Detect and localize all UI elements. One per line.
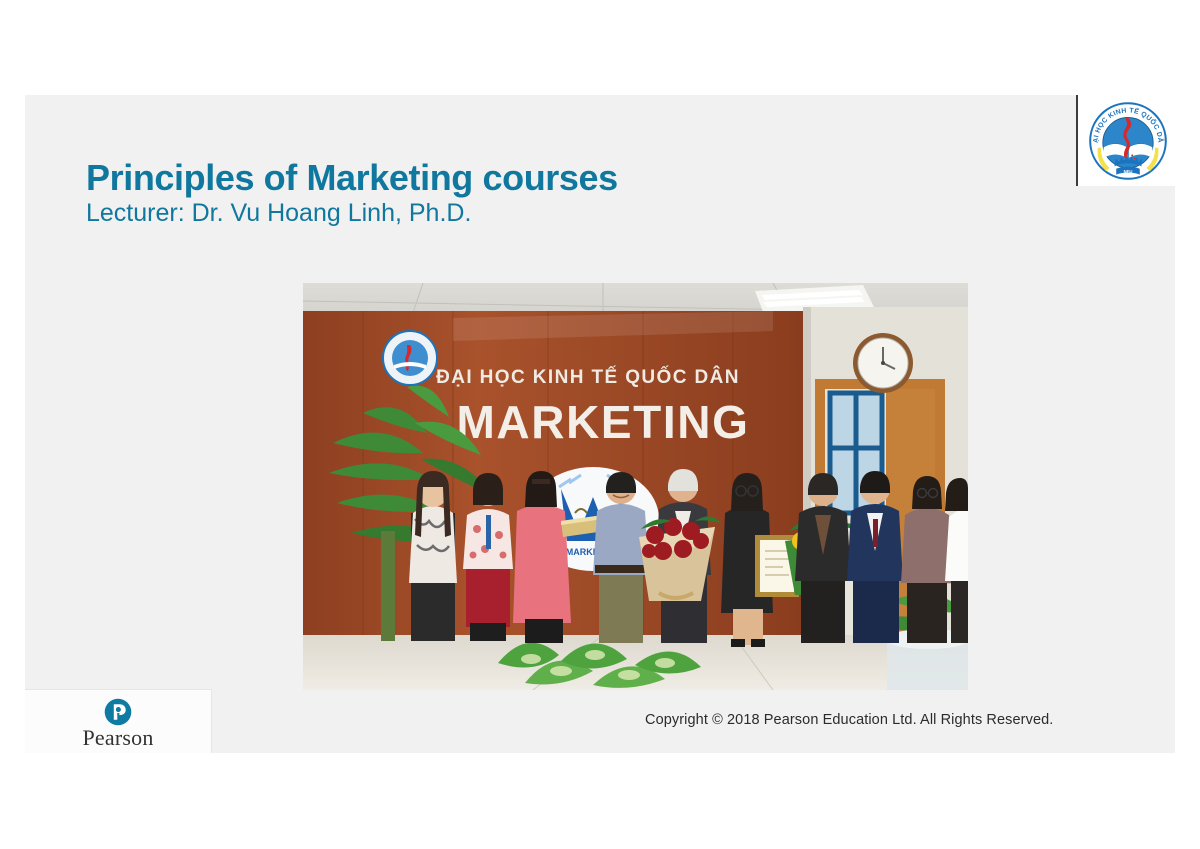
brand-logo-container: ĐẠI HỌC KINH TẾ QUỐC DÂN xyxy=(1076,95,1175,186)
page-title: Principles of Marketing courses xyxy=(86,159,846,197)
pearson-wordmark: Pearson xyxy=(25,725,211,751)
photo-wall-text-line2: MARKETING xyxy=(457,396,750,448)
title-block: Principles of Marketing courses Lecturer… xyxy=(86,159,846,227)
photo-wall-text-line1: ĐẠI HỌC KINH TẾ QUỐC DÂN xyxy=(436,366,740,388)
pearson-logo-container: Pearson xyxy=(25,689,212,753)
copyright-text: Copyright © 2018 Pearson Education Ltd. … xyxy=(645,712,1053,728)
neu-university-logo-icon: ĐẠI HỌC KINH TẾ QUỐC DÂN xyxy=(1086,99,1170,183)
page-subtitle: Lecturer: Dr. Vu Hoang Linh, Ph.D. xyxy=(86,200,846,228)
group-photo-illustration: ĐẠI HỌC KINH TẾ QUỐC DÂN MARKETING MARKE… xyxy=(303,283,968,690)
group-photo: ĐẠI HỌC KINH TẾ QUỐC DÂN MARKETING MARKE… xyxy=(303,283,968,690)
slide-canvas: Principles of Marketing courses Lecturer… xyxy=(25,95,1175,753)
neu-banner-text: NEU xyxy=(1124,169,1133,174)
pearson-logo-icon xyxy=(104,698,132,726)
